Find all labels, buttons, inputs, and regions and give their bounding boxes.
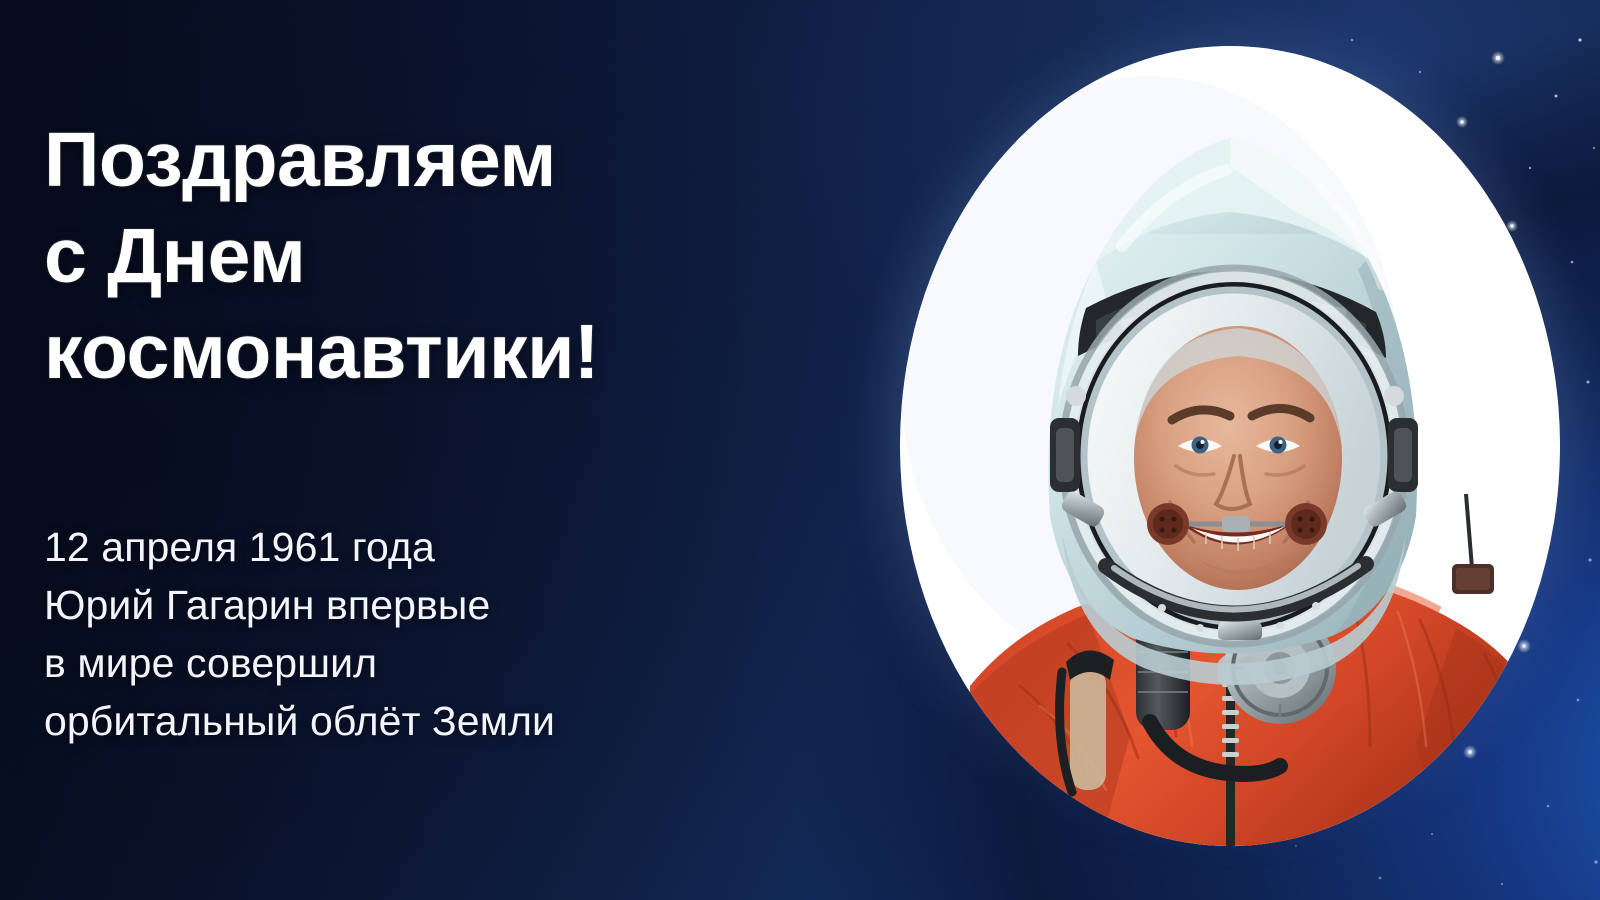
gagarin-figure (900, 46, 1560, 846)
description-text: 12 апреля 1961 года Юрий Гагарин впервые… (44, 518, 764, 750)
cosmonautics-day-banner: Поздравляем с Днем космонавтики! 12 апре… (0, 0, 1600, 900)
page-title: Поздравляем с Днем космонавтики! (44, 112, 804, 400)
cosmonaut-portrait (872, 0, 1592, 900)
portrait-disc (900, 46, 1560, 846)
